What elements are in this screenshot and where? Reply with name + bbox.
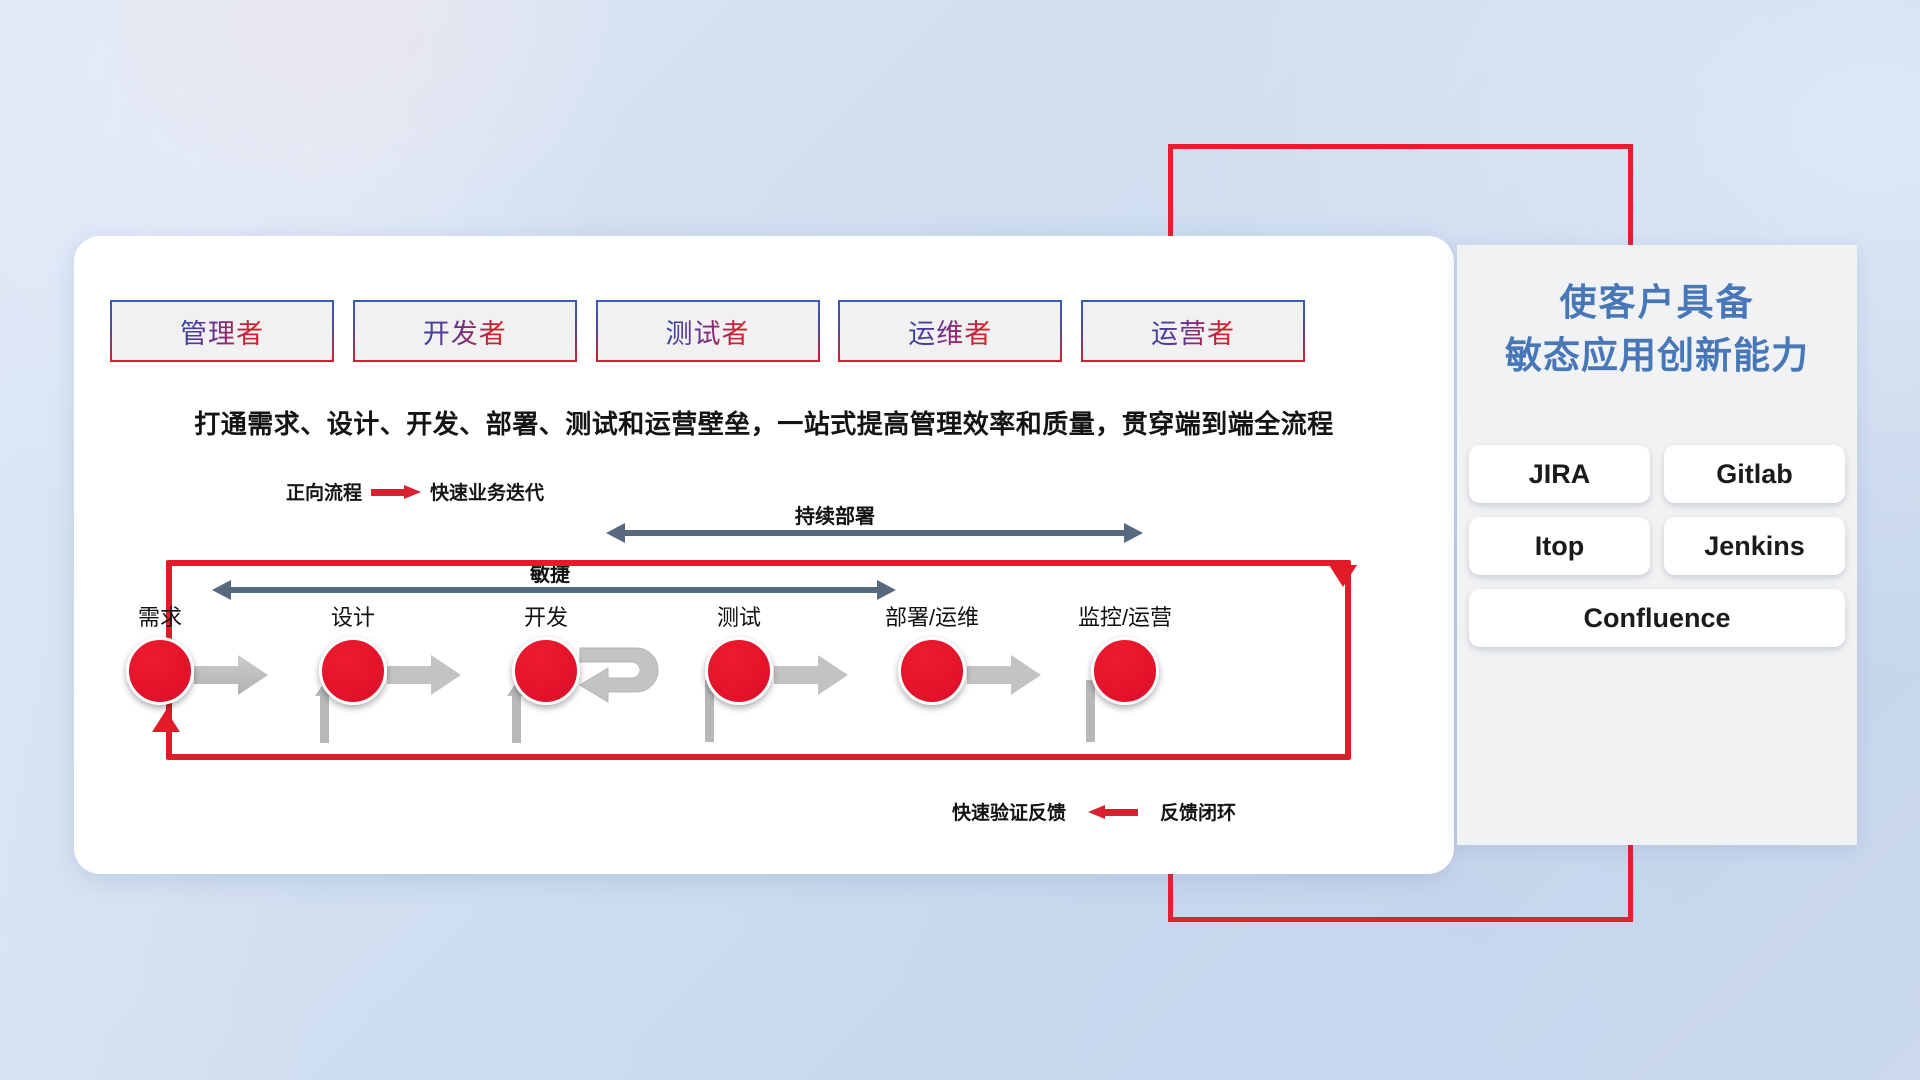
continuous-deployment-arrow-icon bbox=[606, 523, 1143, 543]
forward-flow-left-label: 正向流程 bbox=[286, 478, 362, 505]
pipeline-node-circle bbox=[705, 637, 773, 705]
role-label: 测试者 bbox=[666, 312, 750, 351]
feedback-flow-caption: 快速验证反馈 反馈闭环 bbox=[952, 798, 1236, 825]
pipeline-node-label: 需求 bbox=[100, 600, 220, 632]
panel-title-line2: 敏态应用创新能力 bbox=[1457, 330, 1857, 383]
red-loop-arrowhead-down-icon bbox=[1329, 565, 1357, 587]
pipeline-node-circle bbox=[319, 637, 387, 705]
pipeline-node-design[interactable]: 设计 bbox=[293, 600, 413, 705]
tool-chip-jenkins[interactable]: Jenkins bbox=[1664, 517, 1845, 575]
role-box-operations[interactable]: 运营者 bbox=[1081, 300, 1305, 362]
pipeline-node-monitor-operations[interactable]: 监控/运营 bbox=[1065, 600, 1185, 705]
pipeline-node-requirement[interactable]: 需求 bbox=[100, 600, 220, 705]
feedback-flow-left-label: 快速验证反馈 bbox=[952, 798, 1066, 825]
role-label: 运维者 bbox=[908, 312, 992, 351]
tool-chip-gitlab[interactable]: Gitlab bbox=[1664, 445, 1845, 503]
tool-chip-jira[interactable]: JIRA bbox=[1469, 445, 1650, 503]
tool-chip-itop[interactable]: Itop bbox=[1469, 517, 1650, 575]
pipeline-node-circle bbox=[898, 637, 966, 705]
role-label: 管理者 bbox=[180, 312, 264, 351]
roles-row: 管理者 开发者 测试者 运维者 运营者 bbox=[110, 300, 1305, 362]
role-box-ops[interactable]: 运维者 bbox=[838, 300, 1062, 362]
pipeline-node-circle bbox=[126, 637, 194, 705]
panel-title: 使客户具备 敏态应用创新能力 bbox=[1457, 277, 1857, 382]
panel-title-line1: 使客户具备 bbox=[1457, 277, 1857, 330]
pipeline-node-circle bbox=[512, 637, 580, 705]
pipeline-row: 需求 设计 开发 测试 部署/运维 监控/运营 bbox=[74, 600, 1454, 720]
pipeline-node-deploy-ops[interactable]: 部署/运维 bbox=[872, 600, 992, 705]
arrow-right-icon bbox=[371, 485, 421, 499]
pipeline-node-test[interactable]: 测试 bbox=[679, 600, 799, 705]
background-gradient-accent bbox=[120, 0, 640, 240]
role-label: 运营者 bbox=[1151, 312, 1235, 351]
pipeline-node-circle bbox=[1091, 637, 1159, 705]
forward-flow-right-label: 快速业务迭代 bbox=[430, 478, 544, 505]
pipeline-node-label: 部署/运维 bbox=[872, 600, 992, 632]
pipeline-node-label: 开发 bbox=[486, 600, 606, 632]
feedback-flow-right-label: 反馈闭环 bbox=[1160, 798, 1236, 825]
tool-chip-confluence[interactable]: Confluence bbox=[1469, 589, 1845, 647]
role-box-developer[interactable]: 开发者 bbox=[353, 300, 577, 362]
arrow-left-icon bbox=[1088, 805, 1138, 819]
value-proposition-panel: 使客户具备 敏态应用创新能力 JIRA Gitlab Itop Jenkins … bbox=[1457, 245, 1857, 845]
role-box-manager[interactable]: 管理者 bbox=[110, 300, 334, 362]
pipeline-node-label: 测试 bbox=[679, 600, 799, 632]
headline-text: 打通需求、设计、开发、部署、测试和运营壁垒，一站式提高管理效率和质量，贯穿端到端… bbox=[74, 404, 1454, 441]
pipeline-node-develop[interactable]: 开发 bbox=[486, 600, 606, 705]
tool-chip-grid: JIRA Gitlab Itop Jenkins Confluence bbox=[1469, 445, 1845, 647]
role-box-tester[interactable]: 测试者 bbox=[596, 300, 820, 362]
role-label: 开发者 bbox=[423, 312, 507, 351]
pipeline-node-label: 设计 bbox=[293, 600, 413, 632]
forward-flow-caption: 正向流程 快速业务迭代 bbox=[286, 478, 544, 505]
pipeline-node-label: 监控/运营 bbox=[1065, 600, 1185, 632]
